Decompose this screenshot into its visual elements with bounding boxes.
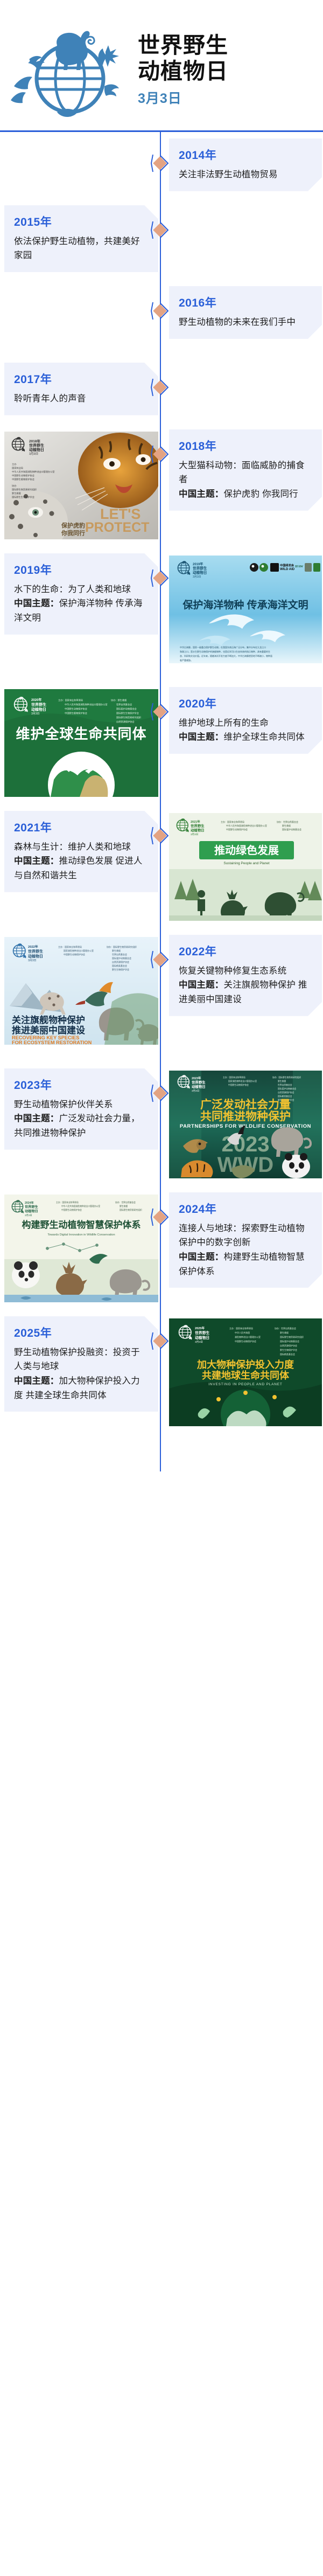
svg-text:2024年: 2024年 (25, 1200, 34, 1205)
svg-text:动植物日: 动植物日 (28, 954, 43, 959)
svg-text:世界自然基金会: 世界自然基金会 (116, 703, 132, 706)
svg-text:中国野生动物保护协会: 中国野生动物保护协会 (61, 1209, 82, 1211)
card-china-theme-label: 中国主题： (179, 980, 224, 990)
card-china-theme-label: 中国主题： (179, 732, 224, 742)
svg-text:野生救援: 野生救援 (12, 491, 22, 495)
timeline-row: 2018年 世界野生 动植物日 3月3日 主办 国家林业局 中华人民共和国濒危物… (0, 429, 323, 539)
timeline-left-column: 2019年水下的生命：为了人类和地球中国主题：保护海洋物种 传承海洋文明 (0, 553, 160, 663)
svg-text:国际爱护动物基金会: 国际爱护动物基金会 (116, 707, 137, 711)
card-year-label: 2022年 (179, 943, 312, 959)
timeline-card-2021[interactable]: 2021年森林与生计：维护人类和地球中国主题：推动绿色发展 促进人与自然和谐共生 (4, 811, 158, 892)
svg-text:国际野生物贸易研究组织: 国际野生物贸易研究组织 (280, 1335, 304, 1338)
timeline-card-2022[interactable]: 2022年恢复关键物种修复生态系统中国主题：关注旗舰物种保护 推进美丽中国建设 (169, 935, 322, 1016)
card-china-theme-label: 中国主题： (14, 1114, 59, 1123)
svg-text:自然资源保护协会: 自然资源保护协会 (112, 960, 129, 963)
timeline-row: 2023年野生动植物保护伙伴关系中国主题：广泛发动社会力量，共同推进物种保护 2… (0, 1068, 323, 1178)
timeline-right-column: 2022年恢复关键物种修复生态系统中国主题：关注旗舰物种保护 推进美丽中国建设 (163, 935, 323, 1045)
svg-text:2022年: 2022年 (28, 945, 38, 949)
row-spacer (0, 539, 323, 553)
timeline-row: 2025年野生动植物保护投融资：投资于人类与地球中国主题：加大物种保护投入力度 … (0, 1316, 323, 1426)
timeline-row: 2024年 世界野生 动植物日 3月3日 主办：国家林业和草原局 中华人民共和国… (0, 1192, 323, 1302)
timeline-row: 2016年野生动植物的未来在我们手中 (0, 286, 323, 339)
svg-text:临严重威胁。: 临严重威胁。 (180, 658, 193, 662)
svg-text:中华人民共和国濒危物种进出口管理办公室: 中华人民共和国濒危物种进出口管理办公室 (65, 703, 108, 706)
svg-text:国际鹤类基金会: 国际鹤类基金会 (278, 1095, 292, 1098)
svg-text:国家林业局: 国家林业局 (12, 466, 23, 470)
right-stack: 2020年维护地球上所有的生命中国主题：维护全球生命共同体 (169, 687, 323, 754)
card-global-theme: 水下的生命：为了人类和地球 (14, 582, 149, 597)
svg-text:野生生物保护学会: 野生生物保护学会 (280, 1348, 297, 1351)
right-stack: 2021年 世界野生 动植物日 3月3日 主办：国家林业和草原局 中华人民共和国… (169, 811, 323, 921)
card-china-theme-value: 保护虎豹 你我同行 (224, 489, 298, 499)
timeline-card-2023[interactable]: 2023年野生动植物保护伙伴关系中国主题：广泛发动社会力量，共同推进物种保护 (4, 1068, 158, 1150)
svg-text:FOR ECOSYSTEM RESTORATION: FOR ECOSYSTEM RESTORATION (12, 1040, 92, 1045)
svg-text:动植物日: 动植物日 (193, 570, 207, 575)
timeline-left-column: 2020年 世界野生 动植物日 3月3日 主办：国家林业和草原局 中华人民共和国… (0, 687, 160, 797)
timeline-right-column: 2018年大型猫科动物：面临威胁的捕食者中国主题：保护虎豹 你我同行 (163, 429, 323, 539)
row-spacer (0, 1426, 323, 1450)
svg-text:加大物种保护投入力度: 加大物种保护投入力度 (196, 1359, 294, 1370)
svg-text:Sustaining People and Planet: Sustaining People and Planet (223, 862, 269, 865)
timeline-left-column: 2022年 世界野生 动植物日 3月3日 主办：国家林业和草原局 国家濒危物种进… (0, 935, 160, 1045)
header-title-block: 世界野生 动植物日 3月3日 (135, 25, 313, 108)
svg-text:国际爱护动物基金会: 国际爱护动物基金会 (282, 828, 301, 831)
card-global-theme: 连接人与地球：探索野生动植物保护中的数字创新 (179, 1221, 312, 1250)
timeline-right-column: 2020年维护地球上所有的生命中国主题：维护全球生命共同体 (163, 687, 323, 797)
left-stack: 2020年 世界野生 动植物日 3月3日 主办：国家林业和草原局 中华人民共和国… (0, 687, 156, 797)
svg-text:国际野生物贸易研究组织: 国际野生物贸易研究组织 (120, 1209, 142, 1211)
svg-text:世界野生: 世界野生 (191, 823, 205, 828)
svg-text:中国野生植物保护协会: 中国野生植物保护协会 (65, 711, 88, 715)
svg-text:PROTECT: PROTECT (85, 520, 149, 535)
svg-text:INVESTING IN PEOPLE AND PLANET: INVESTING IN PEOPLE AND PLANET (208, 1383, 282, 1386)
svg-text:主办：国家林业和草原局: 主办：国家林业和草原局 (56, 1201, 79, 1204)
svg-text:世界野生: 世界野生 (28, 949, 43, 954)
timeline-gutter (160, 1192, 163, 1302)
page-date: 3月3日 (138, 88, 313, 107)
svg-text:IFAW: IFAW (295, 565, 303, 568)
card-year-label: 2014年 (179, 147, 312, 163)
svg-text:自然资源保护协会: 自然资源保护协会 (280, 1344, 297, 1347)
svg-text:国际野生生物保护学会: 国际野生生物保护学会 (116, 711, 139, 715)
svg-text:主办: 主办 (12, 462, 16, 466)
svg-text:协办：世界自然基金会: 协办：世界自然基金会 (275, 1327, 296, 1330)
timeline-row: 2020年 世界野生 动植物日 3月3日 主办：国家林业和草原局 中华人民共和国… (0, 687, 323, 797)
card-china-theme: 中国主题：构建野生动植物智慧保护体系 (179, 1250, 312, 1279)
svg-text:世界野生: 世界野生 (25, 1205, 39, 1209)
svg-text:主办：国家林业和草原局: 主办：国家林业和草原局 (223, 1076, 245, 1079)
poster-artwork: 2019年 世界野生 动植物日 3月3日 中国绿发会 WILD AID IFAW… (169, 556, 322, 663)
poster-artwork: 2024年 世界野生 动植物日 3月3日 主办：国家林业和草原局 中华人民共和国… (4, 1195, 158, 1302)
poster-artwork: 2020年 世界野生 动植物日 3月3日 主办：国家林业和草原局 中华人民共和国… (4, 689, 158, 797)
svg-text:关注旗舰物种保护: 关注旗舰物种保护 (12, 1015, 85, 1025)
svg-text:中国野生动物保护协会: 中国野生动物保护协会 (65, 707, 88, 711)
timeline-left-column: 2024年 世界野生 动植物日 3月3日 主办：国家林业和草原局 中华人民共和国… (0, 1192, 160, 1302)
svg-text:动植物日: 动植物日 (31, 707, 46, 712)
timeline-gutter (160, 363, 163, 415)
card-year-label: 2019年 (14, 561, 149, 578)
left-stack: 2021年森林与生计：维护人类和地球中国主题：推动绿色发展 促进人与自然和谐共生 (0, 811, 156, 892)
svg-text:世界自然基金会: 世界自然基金会 (278, 1084, 292, 1086)
timeline-gutter (160, 286, 163, 339)
card-year-label: 2017年 (14, 371, 149, 387)
card-china-theme-label: 中国主题： (179, 1252, 224, 1262)
svg-text:野生救援: 野生救援 (278, 1080, 286, 1082)
svg-text:Towards Digital Innovation in: Towards Digital Innovation in Wildlife C… (47, 1233, 115, 1237)
svg-text:中国野生动物保护协会: 中国野生动物保护协会 (235, 1339, 256, 1343)
card-china-theme: 中国主题：保护虎豹 你我同行 (179, 487, 312, 502)
timeline-right-column: 2016年野生动植物的未来在我们手中 (163, 286, 323, 339)
timeline-left-column: 2018年 世界野生 动植物日 3月3日 主办 国家林业局 中华人民共和国濒危物… (0, 429, 160, 539)
svg-text:野生救援: 野生救援 (120, 1205, 128, 1207)
poster-artwork: 2025年 世界野生 动植物日 3月3日 主办：国家林业和草原局 中华人民共和国… (169, 1318, 322, 1426)
left-stack: 2023年野生动植物保护伙伴关系中国主题：广泛发动社会力量，共同推进物种保护 (0, 1068, 156, 1150)
card-china-theme: 中国主题：推动绿色发展 促进人与自然和谐共生 (14, 854, 149, 883)
timeline-card-2014[interactable]: 2014年关注非法野生动植物贸易 (169, 138, 322, 191)
svg-text:自然资源保护协会: 自然资源保护协会 (278, 1091, 294, 1094)
svg-text:中华白海豚，国家一级重点保护野生动物，在我国东南沿海广泛分布: 中华白海豚，国家一级重点保护野生动物，在我国东南沿海广泛分布，集中分布在九龙江口 (180, 645, 266, 649)
svg-text:动植物日: 动植物日 (192, 1084, 206, 1089)
card-year-label: 2018年 (179, 438, 312, 454)
row-spacer (0, 797, 323, 811)
timeline-card-2015[interactable]: 2015年依法保护野生动植物，共建美好家园 (4, 205, 158, 272)
svg-text:国际鹤类基金会: 国际鹤类基金会 (280, 1352, 295, 1356)
poster-2022-key-species[interactable]: 2022年 世界野生 动植物日 3月3日 主办：国家林业和草原局 国家濒危物种进… (4, 937, 158, 1045)
svg-text:3月3日: 3月3日 (193, 575, 201, 579)
card-year-label: 2024年 (179, 1200, 312, 1217)
svg-text:广泛发动社会力量: 广泛发动社会力量 (200, 1098, 291, 1111)
card-global-theme: 野生动植物保护伙伴关系 (14, 1098, 149, 1112)
svg-text:国际爱护动物基金会: 国际爱护动物基金会 (278, 1087, 296, 1090)
svg-text:3月3日: 3月3日 (195, 1341, 203, 1344)
svg-text:共同推进物种保护: 共同推进物种保护 (200, 1110, 291, 1123)
page-title-line2: 动植物日 (138, 58, 313, 84)
timeline-left-column (0, 286, 160, 339)
svg-text:3月3日: 3月3日 (29, 452, 38, 456)
poster-2020-global-life-community[interactable]: 2020年 世界野生 动植物日 3月3日 主办：国家林业和草原局 中华人民共和国… (4, 689, 158, 797)
svg-text:维护全球生命共同体: 维护全球生命共同体 (16, 726, 146, 742)
svg-text:主办：国家林业和草原局: 主办：国家林业和草原局 (221, 820, 244, 823)
svg-text:3月3日: 3月3日 (28, 959, 37, 962)
timeline-right-column: 2025年 世界野生 动植物日 3月3日 主办：国家林业和草原局 中华人民共和国… (163, 1316, 323, 1426)
row-spacer (0, 272, 323, 286)
svg-text:世界自然基金会: 世界自然基金会 (112, 953, 127, 956)
world-wildlife-day-timeline-infographic: 世界野生 动植物日 3月3日 2014年关注非法野生动植物贸易2015年依法保护… (0, 0, 323, 2576)
timeline-gutter (160, 553, 163, 663)
row-spacer (0, 921, 323, 935)
svg-text:国际野生生物保护学会: 国际野生生物保护学会 (12, 495, 35, 499)
timeline-left-column: 2021年森林与生计：维护人类和地球中国主题：推动绿色发展 促进人与自然和谐共生 (0, 811, 160, 921)
right-stack: 2014年关注非法野生动植物贸易 (169, 138, 323, 191)
timeline-card-2019[interactable]: 2019年水下的生命：为了人类和地球中国主题：保护海洋物种 传承海洋文明 (4, 553, 158, 635)
row-spacer (0, 1302, 323, 1316)
timeline-row: 2021年森林与生计：维护人类和地球中国主题：推动绿色发展 促进人与自然和谐共生… (0, 811, 323, 921)
svg-text:3月3日: 3月3日 (31, 712, 40, 716)
left-stack: 2025年野生动植物保护投融资：投资于人类与地球中国主题：加大物种保护投入力度 … (0, 1316, 156, 1412)
card-global-theme: 森林与生计：维护人类和地球 (14, 840, 149, 855)
card-year-label: 2021年 (14, 819, 149, 835)
svg-text:中国绿发会: 中国绿发会 (280, 563, 294, 567)
card-global-theme: 依法保护野生动植物，共建美好家园 (14, 234, 149, 263)
svg-text:共建地球生命共同体: 共建地球生命共同体 (202, 1370, 290, 1381)
svg-text:和珠江口，是水生野生动物保护的旗舰物种，也是近岸河口生态系统: 和珠江口，是水生野生动物保护的旗舰物种，也是近岸河口生态系统的指示物种，具有重要… (180, 650, 270, 653)
svg-text:动植物日: 动植物日 (25, 1209, 38, 1213)
card-year-label: 2016年 (179, 294, 312, 310)
card-global-theme: 野生动植物保护投融资：投资于人类与地球 (14, 1345, 149, 1374)
timeline-gutter (160, 429, 163, 539)
svg-text:自然资源保护协会: 自然资源保护协会 (116, 720, 135, 724)
page-title-line1: 世界野生 (138, 32, 313, 58)
svg-text:国际野生物贸易研究组织: 国际野生物贸易研究组织 (12, 488, 37, 491)
svg-text:国际爱护动物基金会: 国际爱护动物基金会 (280, 1339, 299, 1343)
svg-text:中华人民共和国濒危物种进出口管理办公室: 中华人民共和国濒危物种进出口管理办公室 (12, 470, 55, 474)
svg-text:协办：世界自然基金会: 协办：世界自然基金会 (277, 820, 298, 823)
timeline-left-column (0, 138, 160, 191)
svg-text:中华人民共和国: 中华人民共和国 (235, 1331, 250, 1334)
row-spacer (0, 1045, 323, 1068)
poster-2018-tiger-leopard[interactable]: 2018年 世界野生 动植物日 3月3日 主办 国家林业局 中华人民共和国濒危物… (4, 432, 158, 539)
timeline-right-column: 2023年 世界野生 动植物日 3月3日 主办：国家林业和草原局 国家濒危物种进… (163, 1068, 323, 1178)
svg-text:主办：国家林业和草原局: 主办：国家林业和草原局 (58, 698, 83, 702)
svg-text:濒危物种进出口管理办公室: 濒危物种进出口管理办公室 (235, 1335, 261, 1338)
poster-2023-partnerships[interactable]: 2023年 世界野生 动植物日 3月3日 主办：国家林业和草原局 国家濒危物种进… (169, 1071, 322, 1178)
svg-text:国际爱护动物基金会: 国际爱护动物基金会 (112, 956, 131, 960)
right-stack: 2023年 世界野生 动植物日 3月3日 主办：国家林业和草原局 国家濒危物种进… (169, 1068, 323, 1178)
poster-2025-investing[interactable]: 2025年 世界野生 动植物日 3月3日 主办：国家林业和草原局 中华人民共和国… (169, 1318, 322, 1426)
page-header: 世界野生 动植物日 3月3日 (0, 0, 323, 132)
svg-text:国家濒危物种进出口管理办公室: 国家濒危物种进出口管理办公室 (228, 1080, 257, 1082)
svg-text:2023年: 2023年 (192, 1076, 201, 1080)
world-wildlife-day-globe-logo (5, 10, 135, 123)
svg-text:协办：国际野生物贸易研究组织: 协办：国际野生物贸易研究组织 (107, 945, 137, 948)
timeline: 2014年关注非法野生动植物贸易2015年依法保护野生动植物，共建美好家园201… (0, 132, 323, 1471)
card-china-theme-label: 中国主题： (179, 489, 224, 499)
card-china-theme-value: 维护全球生命共同体 (224, 732, 305, 742)
timeline-row: 2022年 世界野生 动植物日 3月3日 主办：国家林业和草原局 国家濒危物种进… (0, 935, 323, 1045)
svg-text:协办: 协办 (12, 484, 16, 488)
right-stack: 2016年野生动植物的未来在我们手中 (169, 286, 323, 339)
timeline-card-2018[interactable]: 2018年大型猫科动物：面临威胁的捕食者中国主题：保护虎豹 你我同行 (169, 429, 322, 511)
card-china-theme-label: 中国主题： (14, 1376, 59, 1386)
card-china-theme: 中国主题：关注旗舰物种保护 推进美丽中国建设 (179, 978, 312, 1006)
svg-text:推进美丽中国建设: 推进美丽中国建设 (12, 1025, 85, 1036)
timeline-right-column (163, 205, 323, 272)
svg-text:中国野生动物保护协会: 中国野生动物保护协会 (228, 1084, 249, 1086)
svg-text:协办：世界自然基金会: 协办：世界自然基金会 (115, 1201, 136, 1204)
left-stack: 2019年水下的生命：为了人类和地球中国主题：保护海洋物种 传承海洋文明 (0, 553, 156, 635)
svg-text:WILD AID: WILD AID (280, 568, 295, 571)
timeline-right-column: 2024年连接人与地球：探索野生动植物保护中的数字创新中国主题：构建野生动植物智… (163, 1192, 323, 1302)
svg-text:主办：国家林业和草原局: 主办：国家林业和草原局 (229, 1327, 253, 1330)
poster-2021-forests-livelihoods[interactable]: 2021年 世界野生 动植物日 3月3日 主办：国家林业和草原局 中华人民共和国… (169, 813, 322, 921)
timeline-row: 2019年水下的生命：为了人类和地球中国主题：保护海洋物种 传承海洋文明 201… (0, 553, 323, 663)
right-stack: 2019年 世界野生 动植物日 3月3日 中国绿发会 WILD AID IFAW… (169, 553, 323, 663)
card-year-label: 2023年 (14, 1077, 149, 1093)
svg-text:国际鹤类基金会: 国际鹤类基金会 (112, 964, 127, 967)
timeline-left-column: 2023年野生动植物保护伙伴关系中国主题：广泛发动社会力量，共同推进物种保护 (0, 1068, 160, 1178)
timeline-right-column: 2019年 世界野生 动植物日 3月3日 中国绿发会 WILD AID IFAW… (163, 553, 323, 663)
svg-text:2019年: 2019年 (193, 562, 203, 566)
svg-text:你我同行: 你我同行 (61, 529, 85, 537)
svg-text:世界野生: 世界野生 (31, 702, 46, 707)
svg-text:构建野生动植物智慧保护体系: 构建野生动植物智慧保护体系 (22, 1219, 141, 1230)
poster-2019-ocean-dolphin[interactable]: 2019年 世界野生 动植物日 3月3日 中国绿发会 WILD AID IFAW… (169, 556, 322, 663)
svg-text:世界野生: 世界野生 (193, 566, 207, 571)
left-stack: 2022年 世界野生 动植物日 3月3日 主办：国家林业和草原局 国家濒危物种进… (0, 935, 156, 1045)
timeline-row: 2017年聆听青年人的声音 (0, 363, 323, 415)
timeline-gutter (160, 935, 163, 1045)
poster-artwork: 2023年 世界野生 动植物日 3月3日 主办：国家林业和草原局 国家濒危物种进… (169, 1071, 322, 1178)
svg-text:协办：野生救援: 协办：野生救援 (111, 698, 127, 702)
poster-artwork: 2022年 世界野生 动植物日 3月3日 主办：国家林业和草原局 国家濒危物种进… (4, 937, 158, 1045)
svg-text:2021年: 2021年 (191, 820, 200, 824)
timeline-left-column: 2015年依法保护野生动植物，共建美好家园 (0, 205, 160, 272)
card-china-theme: 中国主题：维护全球生命共同体 (179, 730, 312, 745)
timeline-gutter (160, 687, 163, 797)
svg-text:态、科研和文化价值。近年来，随着海洋开发力度不断加大，中华白: 态、科研和文化价值。近年来，随着海洋开发力度不断加大，中华白海豚栖息地不断缩小，… (180, 654, 272, 657)
timeline-gutter (160, 138, 163, 191)
svg-text:协办：国际野生物贸易研究组织: 协办：国际野生物贸易研究组织 (272, 1076, 301, 1079)
left-stack: 2018年 世界野生 动植物日 3月3日 主办 国家林业局 中华人民共和国濒危物… (0, 429, 156, 539)
svg-text:中华人民共和国濒危物种进出口管理办公室: 中华人民共和国濒危物种进出口管理办公室 (226, 824, 267, 827)
timeline-card-2020[interactable]: 2020年维护地球上所有的生命中国主题：维护全球生命共同体 (169, 687, 322, 754)
svg-text:推动绿色发展: 推动绿色发展 (214, 844, 279, 857)
svg-text:2025年: 2025年 (195, 1326, 205, 1330)
svg-text:2018年: 2018年 (29, 439, 40, 443)
left-stack: 2017年聆听青年人的声音 (0, 363, 156, 415)
svg-text:野生生物保护学会: 野生生物保护学会 (112, 968, 129, 971)
svg-text:中国野生动物保护协会: 中国野生动物保护协会 (12, 474, 35, 477)
timeline-gutter (160, 205, 163, 272)
svg-text:中华人民共和国濒危物种进出口管理办公室: 中华人民共和国濒危物种进出口管理办公室 (61, 1205, 100, 1207)
svg-text:世界野生: 世界野生 (29, 443, 44, 448)
svg-text:保护海洋物种 传承海洋文明: 保护海洋物种 传承海洋文明 (182, 599, 308, 611)
timeline-gutter (160, 811, 163, 921)
poster-artwork: 2021年 世界野生 动植物日 3月3日 主办：国家林业和草原局 中华人民共和国… (169, 813, 322, 921)
timeline-card-2016[interactable]: 2016年野生动植物的未来在我们手中 (169, 286, 322, 339)
poster-artwork: 2018年 世界野生 动植物日 3月3日 主办 国家林业局 中华人民共和国濒危物… (4, 432, 158, 539)
right-stack: 2025年 世界野生 动植物日 3月3日 主办：国家林业和草原局 中华人民共和国… (169, 1316, 323, 1426)
timeline-card-2024[interactable]: 2024年连接人与地球：探索野生动植物保护中的数字创新中国主题：构建野生动植物智… (169, 1192, 322, 1288)
timeline-card-2017[interactable]: 2017年聆听青年人的声音 (4, 363, 158, 415)
timeline-left-column: 2017年聆听青年人的声音 (0, 363, 160, 415)
card-global-theme: 大型猫科动物：面临威胁的捕食者 (179, 459, 312, 487)
card-global-theme: 聆听青年人的声音 (14, 392, 149, 406)
timeline-left-column: 2025年野生动植物保护投融资：投资于人类与地球中国主题：加大物种保护投入力度 … (0, 1316, 160, 1426)
svg-text:中国野生植物保护协会: 中国野生植物保护协会 (12, 477, 35, 481)
timeline-right-column: 2021年 世界野生 动植物日 3月3日 主办：国家林业和草原局 中华人民共和国… (163, 811, 323, 921)
svg-text:2020年: 2020年 (31, 698, 41, 702)
timeline-row: 2015年依法保护野生动植物，共建美好家园 (0, 205, 323, 272)
row-spacer (0, 191, 323, 205)
card-global-theme: 关注非法野生动植物贸易 (179, 168, 312, 182)
card-china-theme-label: 中国主题： (14, 599, 59, 608)
row-spacer (0, 663, 323, 687)
svg-text:野生救援: 野生救援 (280, 1331, 289, 1334)
row-spacer (0, 415, 323, 429)
card-china-theme-label: 中国主题： (14, 856, 59, 866)
row-spacer (0, 1178, 323, 1192)
timeline-row: 2014年关注非法野生动植物贸易 (0, 138, 323, 191)
card-global-theme: 恢复关键物种修复生态系统 (179, 964, 312, 978)
timeline-card-2025[interactable]: 2025年野生动植物保护投融资：投资于人类与地球中国主题：加大物种保护投入力度 … (4, 1316, 158, 1412)
poster-2024-digital-innovation[interactable]: 2024年 世界野生 动植物日 3月3日 主办：国家林业和草原局 中华人民共和国… (4, 1195, 158, 1302)
svg-text:动植物日: 动植物日 (29, 447, 44, 452)
card-china-theme: 中国主题：保护海洋物种 传承海洋文明 (14, 596, 149, 625)
card-year-label: 2020年 (179, 695, 312, 711)
left-stack: 2024年 世界野生 动植物日 3月3日 主办：国家林业和草原局 中华人民共和国… (0, 1192, 156, 1302)
right-stack: 2024年连接人与地球：探索野生动植物保护中的数字创新中国主题：构建野生动植物智… (169, 1192, 323, 1288)
card-global-theme: 野生动植物的未来在我们手中 (179, 315, 312, 330)
timeline-gutter (160, 1316, 163, 1426)
svg-text:野生救援: 野生救援 (112, 949, 121, 952)
svg-text:主办：国家林业和草原局: 主办：国家林业和草原局 (58, 945, 82, 948)
right-stack: 2022年恢复关键物种修复生态系统中国主题：关注旗舰物种保护 推进美丽中国建设 (169, 935, 323, 1016)
svg-text:保护虎豹: 保护虎豹 (61, 522, 85, 529)
timeline-right-column (163, 363, 323, 415)
card-year-label: 2015年 (14, 213, 149, 230)
svg-text:国际野生物贸易研究组织: 国际野生物贸易研究组织 (116, 716, 141, 719)
svg-text:国家濒危物种进出口管理办公室: 国家濒危物种进出口管理办公室 (64, 949, 94, 952)
right-stack: 2018年大型猫科动物：面临威胁的捕食者中国主题：保护虎豹 你我同行 (169, 429, 323, 511)
timeline-gutter (160, 1068, 163, 1178)
svg-text:动植物日: 动植物日 (191, 828, 205, 832)
svg-text:世界野生: 世界野生 (192, 1080, 206, 1085)
svg-text:中国野生动物保护协会: 中国野生动物保护协会 (64, 953, 85, 956)
svg-text:中国野生动物保护协会: 中国野生动物保护协会 (226, 828, 248, 831)
card-year-label: 2025年 (14, 1324, 149, 1341)
timeline-right-column: 2014年关注非法野生动植物贸易 (163, 138, 323, 191)
card-global-theme: 维护地球上所有的生命 (179, 716, 312, 731)
card-china-theme: 中国主题：加大物种保护投入力度 共建全球生命共同体 (14, 1374, 149, 1402)
svg-text:野生救援: 野生救援 (282, 824, 291, 827)
card-china-theme: 中国主题：广泛发动社会力量，共同推进物种保护 (14, 1112, 149, 1140)
row-spacer (0, 339, 323, 363)
svg-text:动植物日: 动植物日 (195, 1335, 209, 1340)
svg-text:世界野生: 世界野生 (195, 1330, 209, 1335)
left-stack: 2015年依法保护野生动植物，共建美好家园 (0, 205, 156, 272)
